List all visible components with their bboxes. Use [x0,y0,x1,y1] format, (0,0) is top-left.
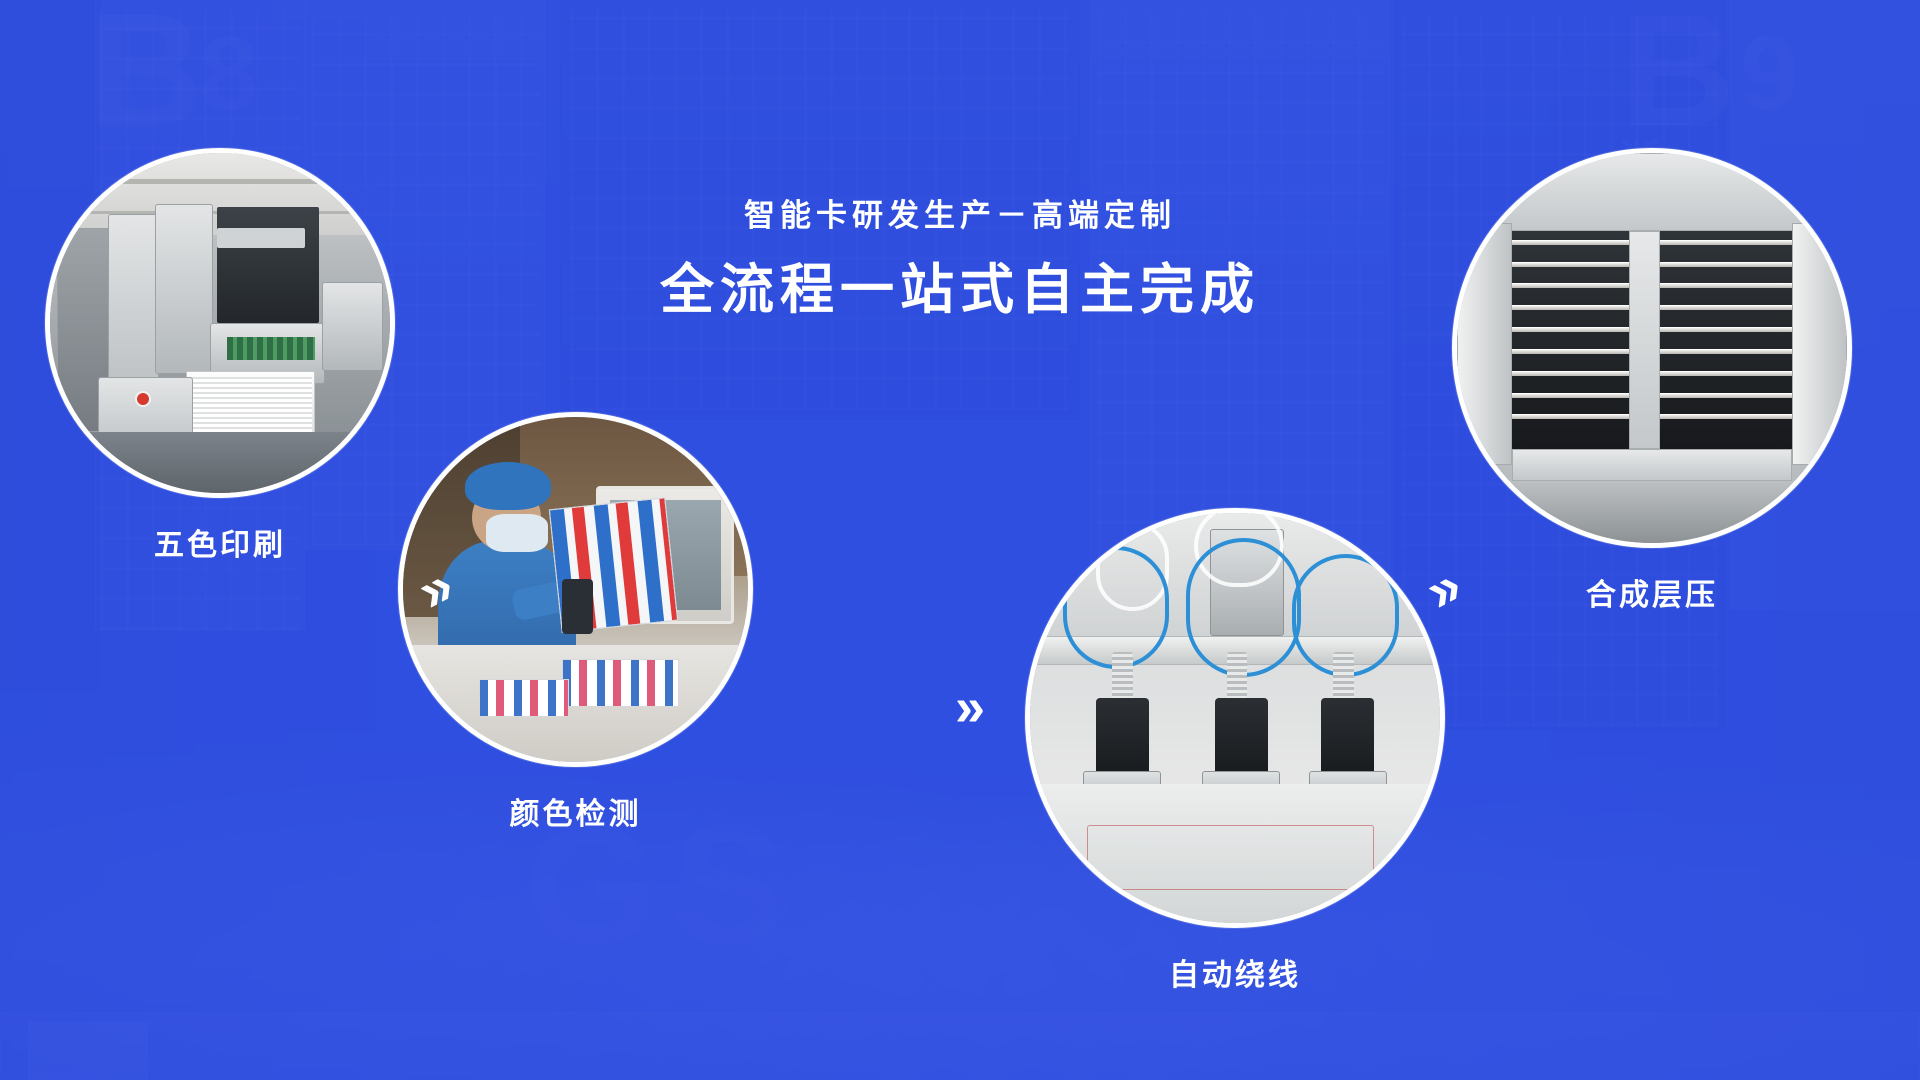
process-step-lamination[interactable]: 合成层压 [1452,148,1852,614]
process-step-winding[interactable]: 自动绕线 [1025,508,1445,994]
offset-printing-press-scene [50,153,390,493]
background-street-band [0,1012,1920,1080]
ghost-number-8-icon: 8 [200,22,258,126]
process-arrow-2-icon: » [955,680,985,734]
process-step-winding-image [1025,508,1445,928]
lamination-press-scene [1457,153,1847,543]
ghost-letter-b-left-icon: B [88,0,204,150]
ghost-number-9-icon: 9 [1740,22,1798,126]
banner-subtitle: 智能卡研发生产－高端定制 [510,196,1410,236]
winding-machine-scene [1030,513,1440,923]
process-step-color-label: 颜色检测 [398,789,753,833]
process-step-printing-image [45,148,395,498]
ghost-letter-b-right-icon: B [1620,0,1736,150]
process-step-lamination-image [1452,148,1852,548]
promo-banner: B 8 B 9 浙 GS 智能卡研发生产－高端定制 全流程一站式自主完成 [0,0,1920,1080]
process-step-lamination-label: 合成层压 [1452,570,1852,614]
headline-block: 智能卡研发生产－高端定制 全流程一站式自主完成 [510,196,1410,323]
process-step-winding-label: 自动绕线 [1025,950,1445,994]
color-inspection-scene [403,417,748,762]
process-step-printing[interactable]: 五色印刷 [45,148,395,564]
background-sign-board [28,1022,148,1080]
banner-heading: 全流程一站式自主完成 [510,258,1410,323]
process-step-printing-label: 五色印刷 [45,520,395,564]
process-step-color[interactable]: 颜色检测 [398,412,753,833]
